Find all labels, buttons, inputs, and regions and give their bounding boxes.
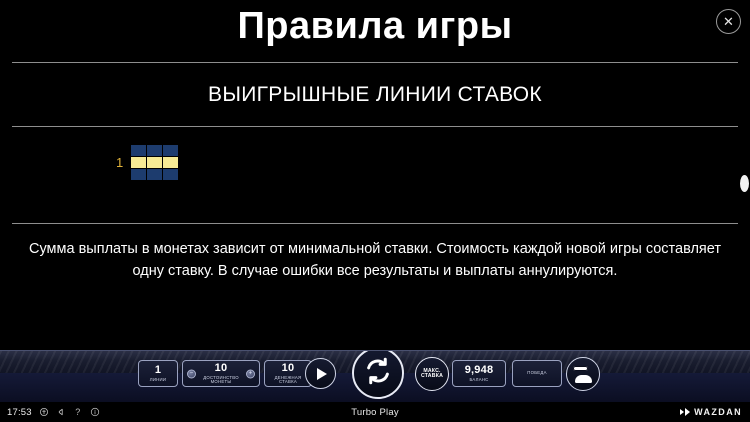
divider (12, 62, 738, 63)
paylines-area: 1 (0, 127, 750, 223)
spin-refresh-icon (363, 356, 393, 391)
coin-value-label: ДОСТОИНСТВО МОНЕТЫ (203, 376, 239, 385)
page-title: Правила игры (0, 6, 750, 48)
coin-value-selector[interactable]: − 10 ДОСТОИНСТВО МОНЕТЫ + (182, 360, 260, 387)
coin-value: 10 (215, 363, 228, 374)
balance-label: БАЛАНС (469, 378, 488, 382)
max-bet-button[interactable]: МАКС. СТАВКА (415, 357, 449, 391)
payline-grid (131, 145, 178, 180)
grid-cell (147, 169, 162, 180)
spin-button[interactable] (352, 350, 404, 399)
status-bar-title: Turbo Play (0, 407, 750, 418)
brand-chevron-icon (680, 409, 684, 415)
payline-index: 1 (116, 155, 123, 170)
coin-increase-icon[interactable]: + (246, 369, 255, 378)
rules-overlay: Правила игры ВЫИГРЫШНЫЕ ЛИНИИ СТАВОК 1 С… (0, 0, 750, 350)
grid-cell (163, 145, 178, 156)
scrollbar[interactable] (743, 0, 749, 350)
scrollbar-thumb[interactable] (740, 175, 749, 192)
max-bet-line2: СТАВКА (421, 374, 443, 379)
divider (12, 223, 738, 224)
grid-cell (163, 169, 178, 180)
grid-cell (131, 169, 146, 180)
brand-chevron-icon (685, 408, 690, 416)
payline-item: 1 (116, 145, 178, 180)
win-display: ПОБЕДА (512, 360, 562, 387)
section-heading: ВЫИГРЫШНЫЕ ЛИНИИ СТАВОК (0, 83, 750, 107)
balance-display: 9,948 БАЛАНС (452, 360, 506, 387)
play-icon (317, 368, 327, 380)
balance-value: 9,948 (465, 365, 494, 376)
turbo-button[interactable] (566, 357, 600, 391)
lines-value: 1 (155, 365, 161, 376)
game-control-bar: 1 ЛИНИИ − 10 ДОСТОИНСТВО МОНЕТЫ + 10 ДЕН… (0, 350, 750, 402)
status-bar: 17:53 ? Turbo Play WAZDAN (0, 402, 750, 422)
rules-body-text: Сумма выплаты в монетах зависит от миним… (26, 238, 724, 283)
lines-label: ЛИНИИ (150, 378, 166, 382)
money-bet-value: 10 (282, 363, 295, 374)
grid-cell-highlight (163, 157, 178, 168)
lines-selector[interactable]: 1 ЛИНИИ (138, 360, 178, 387)
brand-logo: WAZDAN (680, 407, 742, 417)
grid-cell (131, 145, 146, 156)
money-bet-label: ДЕНЕЖНАЯ СТАВКА (275, 376, 302, 385)
grid-cell (147, 145, 162, 156)
grid-cell-highlight (147, 157, 162, 168)
win-label: ПОБЕДА (527, 371, 546, 375)
turbo-icon (572, 365, 594, 383)
coin-decrease-icon[interactable]: − (187, 369, 196, 378)
close-icon[interactable]: ✕ (716, 9, 741, 34)
play-button[interactable] (305, 358, 336, 389)
brand-name: WAZDAN (694, 407, 742, 417)
grid-cell-highlight (131, 157, 146, 168)
